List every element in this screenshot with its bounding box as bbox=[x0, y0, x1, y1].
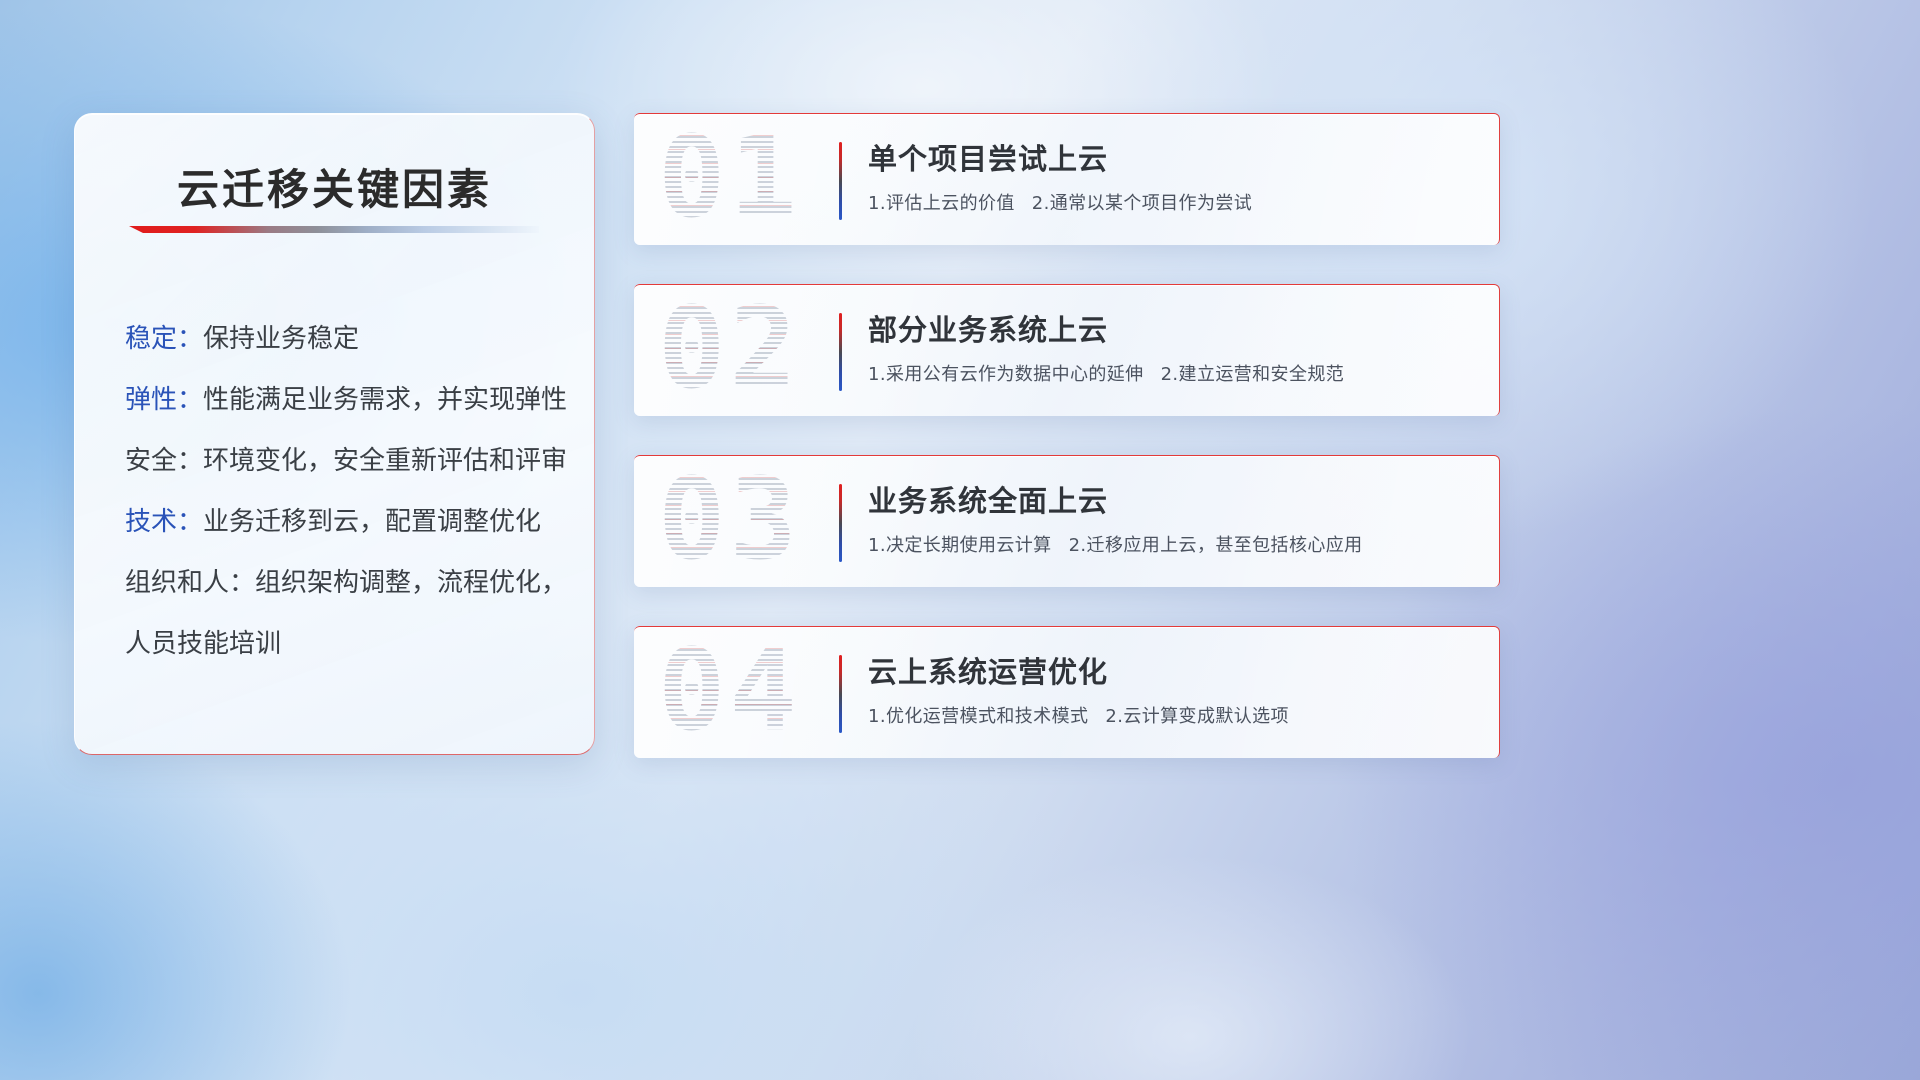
factor-text: 业务迁移到云，配置调整优化 bbox=[203, 507, 541, 537]
step-number-watermark: 0404 bbox=[658, 626, 848, 758]
step-card[interactable]: 0101单个项目尝试上云1.评估上云的价值2.通常以某个项目作为尝试 bbox=[634, 113, 1500, 245]
step-description-item-1: 1.采用公有云作为数据中心的延伸 bbox=[868, 364, 1144, 385]
steps-list: 0101单个项目尝试上云1.评估上云的价值2.通常以某个项目作为尝试0202部分… bbox=[634, 113, 1500, 797]
step-number-tint: 01 bbox=[658, 113, 801, 245]
factor-list: 稳定：保持业务稳定弹性：性能满足业务需求，并实现弹性安全：环境变化，安全重新评估… bbox=[125, 309, 568, 675]
step-number-text: 02 bbox=[658, 284, 801, 416]
step-description: 1.评估上云的价值2.通常以某个项目作为尝试 bbox=[868, 189, 1475, 215]
factor-row: 技术：业务迁移到云，配置调整优化 bbox=[125, 492, 568, 553]
factor-label: 组织和人： bbox=[125, 568, 255, 598]
factor-text: 组织架构调整，流程优化， bbox=[255, 568, 567, 598]
step-description: 1.采用公有云作为数据中心的延伸2.建立运营和安全规范 bbox=[868, 360, 1475, 386]
factor-label: 稳定： bbox=[125, 324, 203, 354]
factor-row: 安全：环境变化，安全重新评估和评审 bbox=[125, 431, 568, 492]
step-card[interactable]: 0303业务系统全面上云1.决定长期使用云计算2.迁移应用上云，甚至包括核心应用 bbox=[634, 455, 1500, 587]
step-accent-bar bbox=[839, 313, 842, 391]
step-description-item-1: 1.决定长期使用云计算 bbox=[868, 535, 1052, 556]
step-accent-bar bbox=[839, 655, 842, 733]
step-body: 部分业务系统上云1.采用公有云作为数据中心的延伸2.建立运营和安全规范 bbox=[868, 307, 1475, 386]
factor-label: 技术： bbox=[125, 507, 203, 537]
step-accent-bar bbox=[839, 142, 842, 220]
step-description-item-2: 2.通常以某个项目作为尝试 bbox=[1032, 193, 1252, 214]
step-description: 1.优化运营模式和技术模式2.云计算变成默认选项 bbox=[868, 702, 1475, 728]
step-body: 业务系统全面上云1.决定长期使用云计算2.迁移应用上云，甚至包括核心应用 bbox=[868, 478, 1475, 557]
step-number-watermark: 0303 bbox=[658, 455, 848, 587]
step-description-item-1: 1.评估上云的价值 bbox=[868, 193, 1015, 214]
factor-label: 弹性： bbox=[125, 385, 203, 415]
factor-label: 安全： bbox=[125, 446, 203, 476]
step-description-item-1: 1.优化运营模式和技术模式 bbox=[868, 706, 1088, 727]
step-body: 云上系统运营优化1.优化运营模式和技术模式2.云计算变成默认选项 bbox=[868, 649, 1475, 728]
step-number-watermark: 0101 bbox=[658, 113, 848, 245]
step-card[interactable]: 0404云上系统运营优化1.优化运营模式和技术模式2.云计算变成默认选项 bbox=[634, 626, 1500, 758]
step-number-watermark: 0202 bbox=[658, 284, 848, 416]
factor-row: 组织和人：组织架构调整，流程优化， bbox=[125, 553, 568, 614]
page-title: 云迁移关键因素 bbox=[75, 156, 594, 217]
step-number-text: 01 bbox=[658, 113, 801, 245]
factor-text: 人员技能培训 bbox=[125, 629, 281, 659]
factor-row: 弹性：性能满足业务需求，并实现弹性 bbox=[125, 370, 568, 431]
step-card[interactable]: 0202部分业务系统上云1.采用公有云作为数据中心的延伸2.建立运营和安全规范 bbox=[634, 284, 1500, 416]
step-title: 业务系统全面上云 bbox=[868, 478, 1475, 520]
step-description-item-2: 2.迁移应用上云，甚至包括核心应用 bbox=[1069, 535, 1363, 556]
step-title: 云上系统运营优化 bbox=[868, 649, 1475, 691]
step-number-tint: 03 bbox=[658, 455, 801, 587]
slide-stage: 云迁移关键因素 稳定：保持业务稳定弹性：性能满足业务需求，并实现弹性安全：环境变… bbox=[0, 0, 1920, 1080]
factor-text: 保持业务稳定 bbox=[203, 324, 359, 354]
step-title: 部分业务系统上云 bbox=[868, 307, 1475, 349]
factor-text: 性能满足业务需求，并实现弹性 bbox=[203, 385, 567, 415]
factor-text: 环境变化，安全重新评估和评审 bbox=[203, 446, 567, 476]
step-description-item-2: 2.云计算变成默认选项 bbox=[1105, 706, 1289, 727]
step-number-text: 03 bbox=[658, 455, 801, 587]
step-body: 单个项目尝试上云1.评估上云的价值2.通常以某个项目作为尝试 bbox=[868, 136, 1475, 215]
step-description-item-2: 2.建立运营和安全规范 bbox=[1161, 364, 1345, 385]
title-divider-rule bbox=[129, 226, 539, 233]
step-description: 1.决定长期使用云计算2.迁移应用上云，甚至包括核心应用 bbox=[868, 531, 1475, 557]
factor-row: 稳定：保持业务稳定 bbox=[125, 309, 568, 370]
step-accent-bar bbox=[839, 484, 842, 562]
factor-row: 人员技能培训 bbox=[125, 614, 568, 675]
key-factors-card: 云迁移关键因素 稳定：保持业务稳定弹性：性能满足业务需求，并实现弹性安全：环境变… bbox=[74, 113, 595, 755]
step-title: 单个项目尝试上云 bbox=[868, 136, 1475, 178]
step-number-text: 04 bbox=[658, 626, 801, 758]
step-number-tint: 04 bbox=[658, 626, 801, 758]
step-number-tint: 02 bbox=[658, 284, 801, 416]
